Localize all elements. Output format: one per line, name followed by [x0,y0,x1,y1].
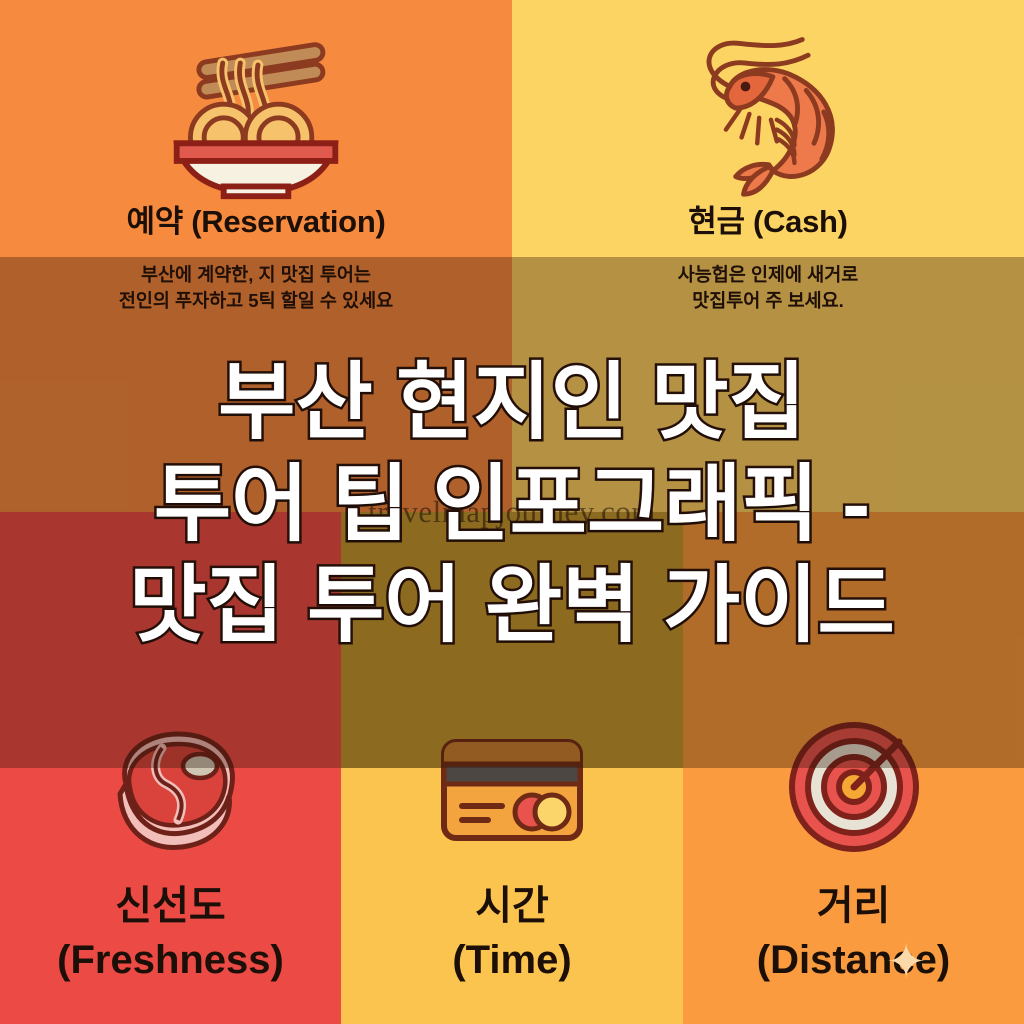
cell-title: 거리 [757,883,950,929]
credit-card-icon [440,722,584,857]
infographic-canvas: 예약 (Reservation) 부산에 계약한, 지 맛집 투어는 전인의 푸… [0,0,1024,1024]
cell-freshness: 신선도 (Freshness) [0,722,341,983]
cell-description: 사능헙은 인제에 새거로 맛집투어 주 보세요. [678,262,858,316]
cell-title: 신선도 [57,883,284,929]
cell-subtitle: (Time) [452,937,571,983]
page-title-line: 부산 현지인 맛집 [0,352,1024,454]
cell-distance: 거리 (Distance) ✦ [683,716,1024,983]
cell-title: 예약 (Reservation) [127,204,386,240]
cell-subtitle: (Freshness) [57,937,284,983]
cell-time: 시간 (Time) [341,722,683,983]
page-title-line: 맛집 투어 완벽 가이드 [0,555,1024,657]
sparkle-icon: ✦ [886,939,926,987]
cell-description-line: 사능헙은 인제에 새거로 [678,262,858,289]
cell-description-line: 전인의 푸자하고 5틱 할일 수 있세요 [119,288,393,315]
cell-title: 시간 [452,883,571,929]
cell-label-group: 신선도 (Freshness) [57,883,284,983]
cell-label-group: 거리 (Distance) ✦ [757,883,950,983]
target-icon [787,716,921,857]
steak-icon [96,722,246,857]
page-title-line: 투어 팁 인포그래픽 - [0,454,1024,556]
cell-label-group: 시간 (Time) [452,883,571,983]
cell-description: 부산에 계약한, 지 맛집 투어는 전인의 푸자하고 5틱 할일 수 있세요 [119,262,393,316]
cell-description-line: 부산에 계약한, 지 맛집 투어는 [119,262,393,289]
cell-cash: 현금 (Cash) 사능헙은 인제에 새거로 맛집투어 주 보세요. [512,18,1024,315]
ramen-bowl-icon [163,18,349,204]
cell-title: 현금 (Cash) [688,204,847,240]
cell-reservation: 예약 (Reservation) 부산에 계약한, 지 맛집 투어는 전인의 푸… [0,18,512,315]
cell-description-line: 맛집투어 주 보세요. [678,288,858,315]
page-title: 부산 현지인 맛집 투어 팁 인포그래픽 - 맛집 투어 완벽 가이드 [0,352,1024,657]
shrimp-icon [675,18,861,204]
